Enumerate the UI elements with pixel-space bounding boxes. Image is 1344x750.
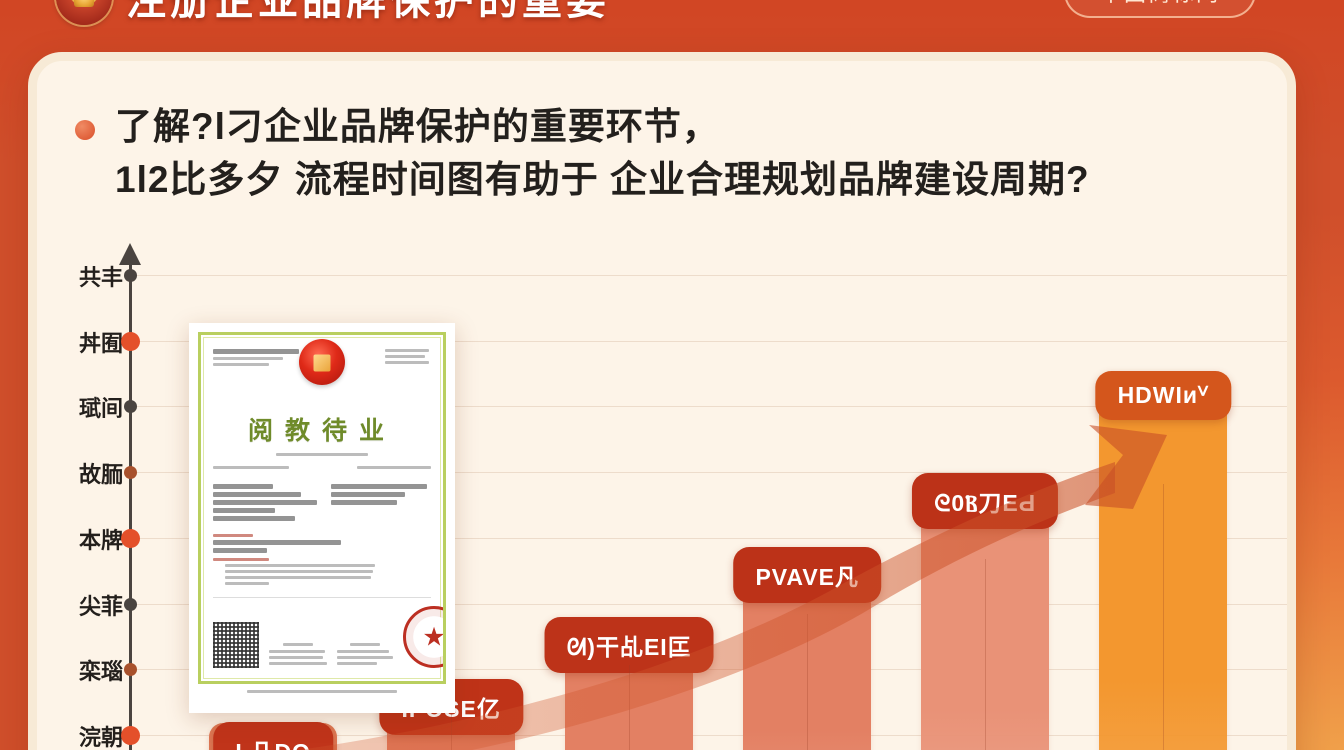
y-axis-tick-label: 浣朝	[28, 720, 123, 750]
y-axis-tick-label: 故胹	[28, 457, 123, 489]
certificate-code-block	[385, 349, 431, 369]
national-emblem-seal-icon	[299, 339, 345, 385]
bar-group[interactable]: L几DQ	[209, 723, 337, 750]
y-axis-tick-label: 栾瑙	[28, 654, 123, 686]
y-axis-tick-label: 本牌	[28, 523, 123, 555]
certificate-frame: 阅教待业	[198, 332, 446, 684]
bar-group[interactable]: ᘛ)干乩EI匞	[565, 618, 693, 750]
bar[interactable]: PVAVE凡	[743, 548, 871, 750]
certificate-bottom-row	[213, 597, 431, 668]
certificate-scope	[213, 534, 431, 585]
page-header: 注册企业品牌保护的重要 中国商标网	[0, 0, 1344, 30]
y-axis-tick-label: 共丰	[28, 260, 123, 292]
certificate-title: 阅教待业	[213, 411, 431, 447]
bar-label[interactable]: PVAVE凡	[733, 547, 881, 603]
national-emblem-icon	[56, 0, 112, 25]
card-heading: 了解?l刁企业品牌保护的重要环节， 1l2比多夕 流程时间图有助于 企业合理规划…	[75, 103, 1251, 204]
bar-label[interactable]: ᘓ0Ⲃ刀EԀ	[912, 473, 1058, 529]
bar[interactable]: HDWIиⱽ	[1099, 372, 1227, 750]
heading-line-2: 1l2比多夕 流程时间图有助于 企业合理规划品牌建设周期?	[115, 156, 1090, 203]
certificate-footer	[198, 690, 446, 693]
certificate-meta-row	[213, 466, 431, 472]
heading-lines: 了解?l刁企业品牌保护的重要环节， 1l2比多夕 流程时间图有助于 企业合理规划…	[115, 103, 1090, 204]
certificate-fields	[213, 484, 431, 524]
bar[interactable]: ᘛ)干乩EI匞	[565, 618, 693, 750]
heading-line-1: 了解?l刁企业品牌保护的重要环节，	[115, 103, 1090, 150]
bar-label[interactable]: HDWIиⱽ	[1096, 371, 1231, 420]
certificate-fields-right	[331, 484, 431, 524]
certificate-fields-left	[213, 484, 317, 524]
page-title: 注册企业品牌保护的重要	[126, 0, 610, 26]
qr-code-icon	[213, 622, 259, 668]
red-round-stamp-icon	[403, 606, 446, 668]
main-card: 了解?l刁企业品牌保护的重要环节， 1l2比多夕 流程时间图有助于 企业合理规划…	[28, 52, 1296, 750]
bullet-dot-icon	[75, 120, 95, 140]
business-license-certificate: 阅教待业	[189, 323, 455, 713]
certificate-issuer-block	[213, 349, 301, 369]
certificate-subtitle	[213, 453, 431, 456]
bar-label[interactable]: ᘛ)干乩EI匞	[545, 617, 714, 673]
bar-group[interactable]: ᘓ0Ⲃ刀EԀ	[921, 474, 1049, 750]
bar-group[interactable]: HDWIиⱽ	[1099, 372, 1227, 750]
y-axis-tick-label: 珷间	[28, 391, 123, 423]
bar-group[interactable]: PVAVE凡	[743, 548, 871, 750]
bar[interactable]: ᘓ0Ⲃ刀EԀ	[921, 474, 1049, 750]
bar[interactable]: L几DQ	[209, 723, 337, 750]
bar-label[interactable]: L几DQ	[213, 722, 333, 750]
y-axis-tick-label: 丼囿	[28, 326, 123, 358]
certificate-authority-block	[337, 643, 393, 668]
certificate-signature-block	[269, 643, 327, 668]
y-axis-tick-label: 尖菲	[28, 589, 123, 621]
header-pill-button[interactable]: 中国商标网	[1064, 0, 1256, 18]
